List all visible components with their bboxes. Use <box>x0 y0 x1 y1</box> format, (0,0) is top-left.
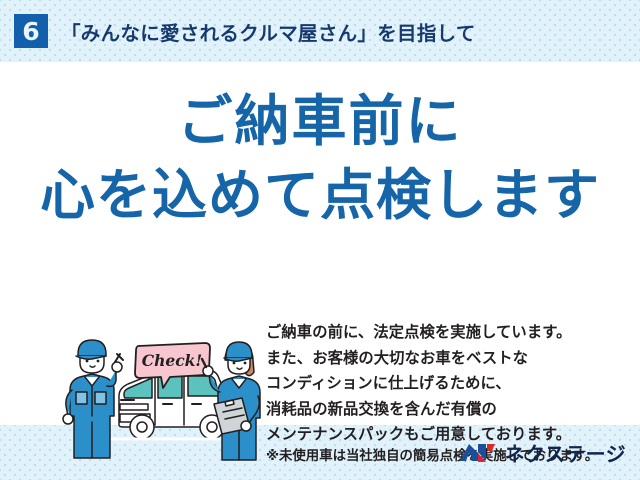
nextage-logo: ネクステージ <box>458 438 626 467</box>
nextage-logo-text: ネクステージ <box>505 438 626 467</box>
section-number-badge: 6 <box>14 14 48 48</box>
body-line-1: ご納車の前に、法定点検を実施しています。 <box>266 320 632 346</box>
header-bar: 6 「みんなに愛されるクルマ屋さん」を目指して <box>0 0 640 62</box>
nextage-logo-mark <box>458 440 498 466</box>
footer-bar: ネクステージ <box>0 425 640 480</box>
header-title: 「みんなに愛されるクルマ屋さん」を目指して <box>61 17 476 46</box>
check-bubble-label: Check! <box>142 351 202 370</box>
body-line-3: コンディションに仕上げるために、 <box>266 371 632 397</box>
body-line-4: 消耗品の新品交換を含んだ有償の <box>266 397 632 423</box>
content-panel: ご納車前に 心を込めて点検します <box>0 62 640 425</box>
headline: ご納車前に 心を込めて点検します <box>0 84 640 232</box>
body-line-2: また、お客様の大切なお車をベストな <box>266 346 632 372</box>
headline-line-2: 心を込めて点検します <box>0 158 640 232</box>
headline-line-1: ご納車前に <box>0 84 640 158</box>
